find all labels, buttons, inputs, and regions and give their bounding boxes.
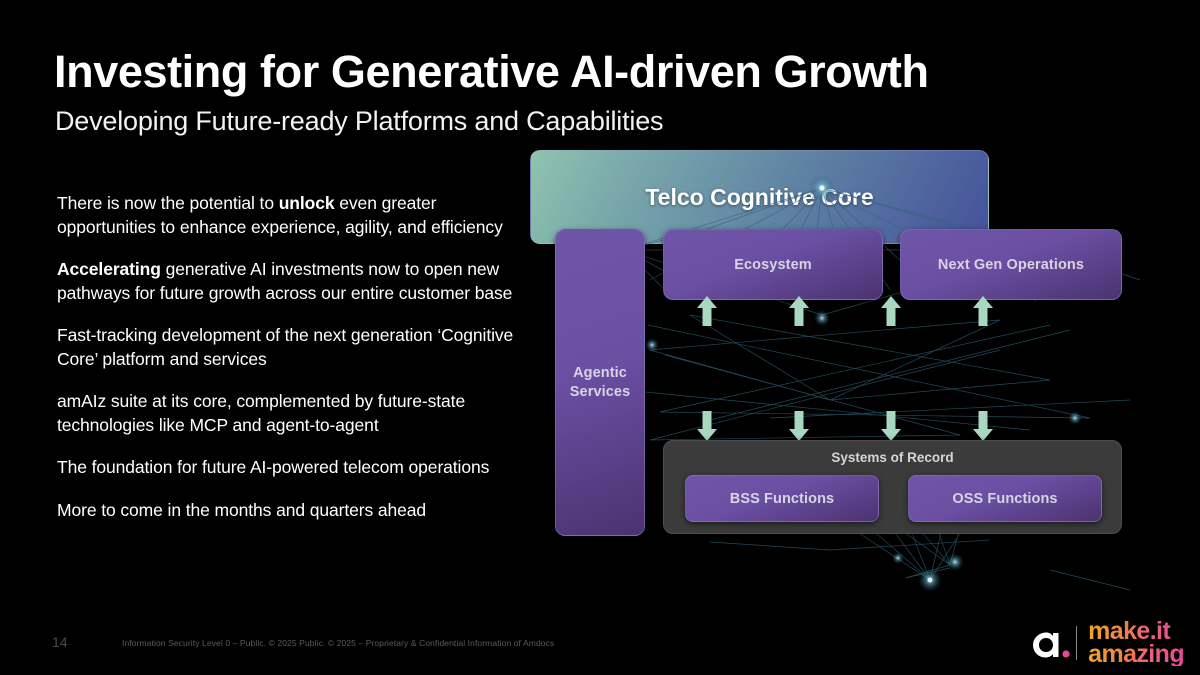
logo-tagline: make.it amazing: [1088, 620, 1184, 667]
bullet-accelerating-investments: Accelerating generative AI investments n…: [57, 258, 527, 305]
logo-divider: [1076, 626, 1078, 660]
bullet-potential-unlock: There is now the potential to unlock eve…: [57, 192, 527, 239]
footer-legal-text: Information Security Level 0 – Public. ©…: [122, 638, 554, 648]
page-title: Investing for Generative AI-driven Growt…: [54, 46, 929, 98]
diagram-box-ecosystem[interactable]: Ecosystem: [663, 229, 883, 300]
amdocs-mark-icon: [1026, 623, 1072, 663]
diagram-box-bss-functions[interactable]: BSS Functions: [685, 475, 879, 522]
arrow-down-icon: [696, 411, 718, 441]
bullet-fast-tracking: Fast-tracking development of the next ge…: [57, 324, 527, 371]
amdocs-logo: make.it amazing: [1026, 618, 1184, 668]
agentic-services-label: Agentic Services: [570, 364, 630, 402]
systems-of-record-label: Systems of Record: [664, 450, 1121, 465]
arrow-up-icon: [972, 296, 994, 326]
diagram-box-next-gen-operations[interactable]: Next Gen Operations: [900, 229, 1122, 300]
arrow-down-icon: [972, 411, 994, 441]
page-number: 14: [52, 634, 68, 650]
arrow-up-icon: [696, 296, 718, 326]
arrow-up-icon: [880, 296, 902, 326]
diagram-box-oss-functions[interactable]: OSS Functions: [908, 475, 1102, 522]
diagram-box-agentic-services[interactable]: Agentic Services: [555, 229, 645, 536]
slide: Investing for Generative AI-driven Growt…: [0, 0, 1200, 675]
bullet-amaiz-suite: amAIz suite at its core, complemented by…: [57, 390, 527, 437]
bullet-foundation: The foundation for future AI-powered tel…: [57, 456, 527, 480]
logo-tagline-line2: amazing: [1088, 643, 1184, 666]
bullet-more-to-come: More to come in the months and quarters …: [57, 499, 527, 523]
arrow-down-icon: [880, 411, 902, 441]
architecture-diagram: Agentic Services Ecosystem Next Gen Oper…: [530, 150, 1170, 610]
diagram-panel-systems-of-record: Systems of Record BSS Functions OSS Func…: [663, 440, 1122, 534]
arrow-up-icon: [788, 296, 810, 326]
arrow-down-icon: [788, 411, 810, 441]
bullet-list: There is now the potential to unlock eve…: [57, 192, 527, 522]
page-subtitle: Developing Future-ready Platforms and Ca…: [55, 106, 663, 137]
